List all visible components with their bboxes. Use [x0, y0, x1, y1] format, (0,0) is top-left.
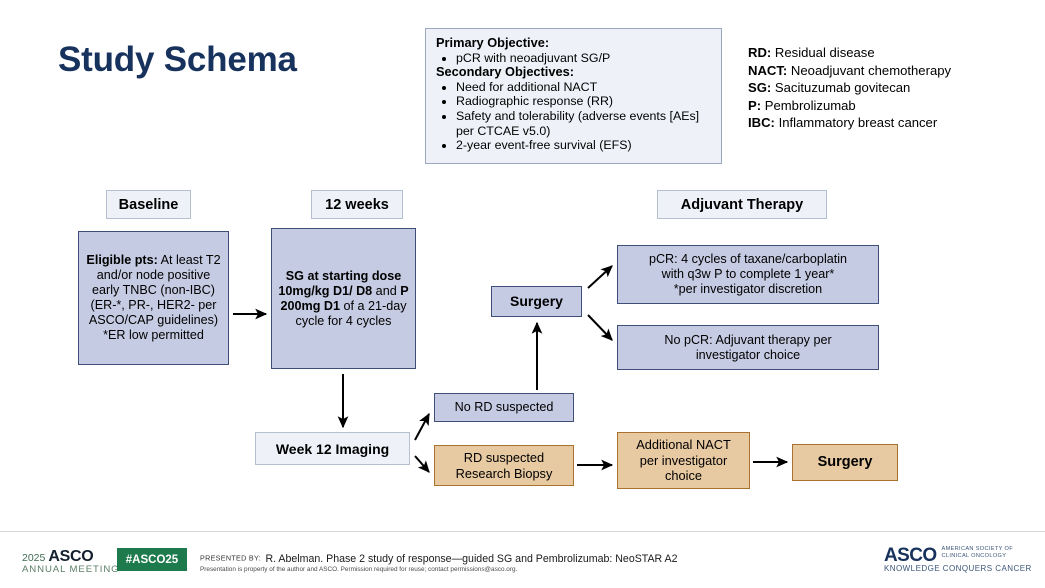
annual-meeting-label: ANNUAL MEETING — [22, 564, 120, 576]
arrow-imaging-to-rd-biopsy — [415, 456, 429, 472]
asco-logo-wordmark: ASCO — [884, 550, 937, 561]
footer-year: 2025 — [22, 552, 45, 564]
footer-divider — [0, 531, 1045, 532]
asco-annual-meeting-logo: 2025 ASCO ANNUAL MEETING — [22, 551, 120, 576]
presented-by-label: PRESENTED BY: — [200, 554, 261, 563]
society-line-2: CLINICAL ONCOLOGY — [942, 553, 1007, 559]
citation-text: R. Abelman. Phase 2 study of response—gu… — [265, 553, 677, 565]
presented-by-line: PRESENTED BY: R. Abelman. Phase 2 study … — [200, 549, 678, 567]
asco-tagline: KNOWLEDGE CONQUERS CANCER — [884, 563, 1032, 574]
hashtag-badge: #ASCO25 — [117, 548, 187, 571]
arrow-surgery-to-no-pcr — [588, 315, 612, 340]
slide-canvas: Study Schema Primary Objective: pCR with… — [0, 0, 1045, 588]
asco-wordmark: ASCO — [48, 548, 93, 565]
asco-society-logo: ASCO AMERICAN SOCIETY OF CLINICAL ONCOLO… — [884, 546, 1032, 574]
flow-arrows — [0, 0, 1045, 588]
permission-notice: Presentation is property of the author a… — [200, 566, 517, 573]
arrow-imaging-to-no-rd — [415, 414, 429, 440]
arrow-surgery-to-pcr — [588, 266, 612, 288]
society-line-1: AMERICAN SOCIETY OF — [942, 546, 1014, 552]
